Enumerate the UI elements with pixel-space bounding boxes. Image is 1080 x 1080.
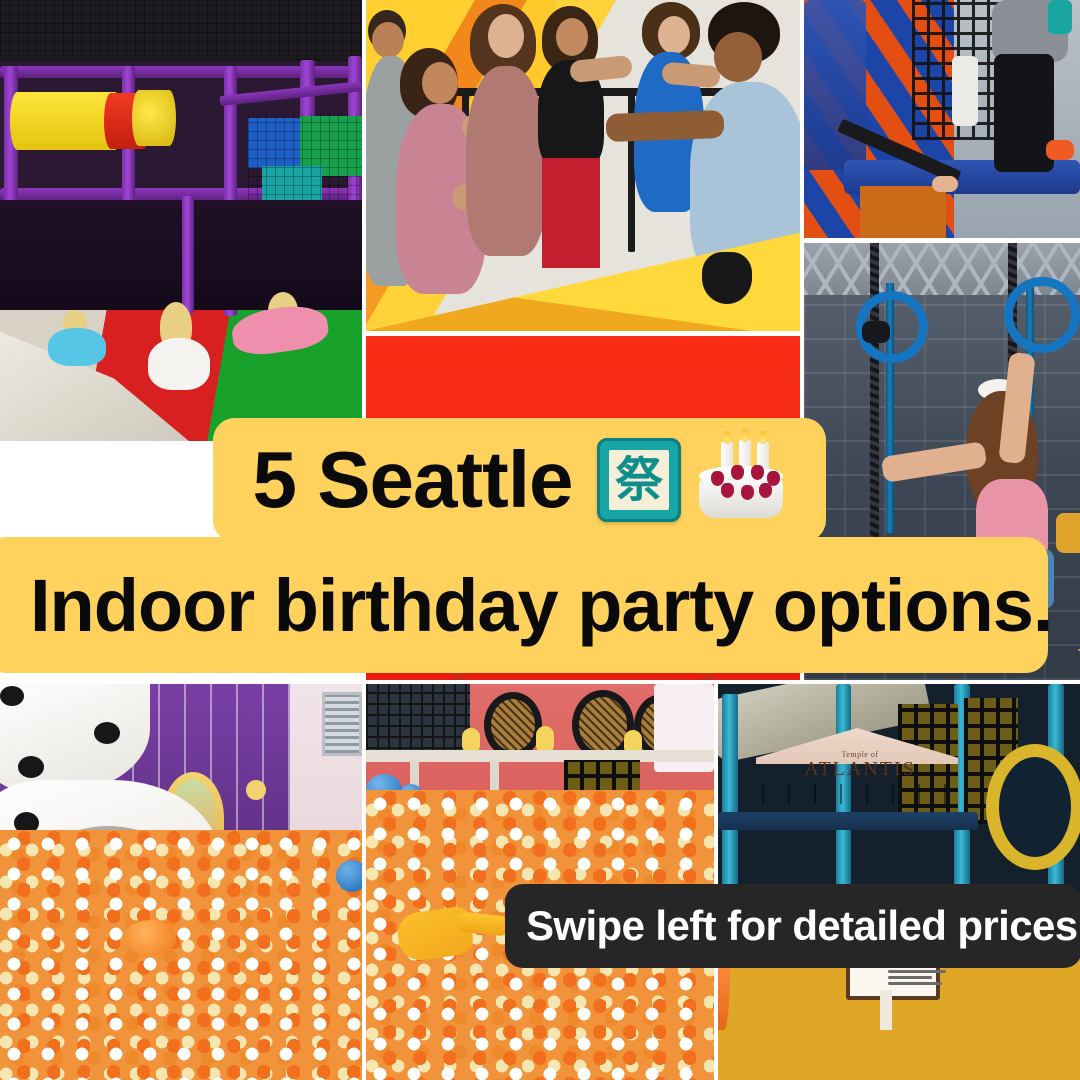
kid-d-pants [542, 158, 600, 268]
atlantis-sign-main: ATLANTIS [780, 758, 940, 781]
party-popper-emoji [1070, 557, 1080, 653]
pointing-right-hand-emoji [398, 898, 510, 964]
platform-edge [718, 812, 978, 830]
kid-a-face [372, 22, 404, 58]
kid-1-body [48, 328, 106, 366]
under-structure-shadow [0, 200, 362, 310]
kid-b-face [422, 62, 458, 104]
ball-pit-balls [0, 830, 362, 1080]
headline-card-secondary: Indoor birthday party options. [0, 537, 1048, 673]
collage-canvas: Temple of ATLANTIS 5 Seattle [0, 0, 1080, 1080]
sign-stand [880, 990, 892, 1030]
wall-vent [322, 692, 362, 756]
wall-pad-left [804, 0, 866, 170]
headline-line-2-text: Indoor birthday party options. [30, 563, 1052, 648]
headline-line-1-row: 5 Seattle [213, 418, 826, 542]
headline-card-primary: 5 Seattle [213, 418, 826, 542]
orange-block [860, 186, 946, 238]
background-person [952, 56, 978, 126]
photo-ninja-image [804, 0, 1080, 238]
photo-atlantis-image: Temple of ATLANTIS [718, 684, 1080, 1080]
loose-balls [124, 920, 176, 956]
photo-playground [0, 0, 362, 441]
jumper-shoe [1046, 140, 1074, 160]
headline-line-1-text: 5 Seattle [252, 434, 572, 526]
upper-net-cage [366, 684, 470, 760]
ring-right [1004, 277, 1080, 353]
japanese-festival-button-emoji [597, 438, 681, 522]
kid-3-body [229, 302, 330, 359]
kid-f-face [714, 32, 762, 82]
popper-cone [1072, 583, 1080, 651]
jumper-legs [994, 54, 1054, 172]
swipe-caption-text: Swipe left for detailed prices. [505, 902, 1080, 950]
cake-cherry-3 [751, 465, 764, 480]
headline-line-2-row: Indoor birthday party options. [30, 537, 1080, 673]
photo-ballpit-mid-image [366, 684, 714, 1080]
birthday-cake-emoji [695, 440, 787, 520]
rules-line-3 [888, 970, 946, 973]
jumper-sleeve [1048, 0, 1072, 34]
photo-ninja [804, 0, 1080, 238]
frame-beam-diag [219, 81, 361, 106]
blue-ball [336, 860, 362, 892]
frame-post-6 [182, 196, 194, 314]
kid-f-arm [606, 110, 725, 142]
pediment-base [762, 784, 954, 804]
cake-cherry-2 [731, 465, 744, 480]
kid-c-face [488, 14, 524, 58]
photo-ballpit-left-image [0, 684, 362, 1080]
cake-flame-2 [741, 429, 749, 442]
black-glove [702, 252, 752, 304]
photo-atlantis: Temple of ATLANTIS [718, 684, 1080, 1080]
cake-cherry-5 [721, 483, 734, 498]
porthole-1 [484, 692, 542, 758]
swipe-caption-pill: Swipe left for detailed prices. [505, 884, 1080, 968]
slide-dot-1 [0, 686, 24, 706]
tube-yellow-end [132, 90, 176, 146]
kid-e-face [658, 16, 690, 54]
ceiling-net [0, 0, 362, 60]
kid-c-body [466, 66, 546, 256]
rules-line-4 [888, 976, 932, 979]
kid-2-body [148, 338, 210, 390]
rope-left [870, 243, 879, 543]
cake-cherry-7 [759, 483, 772, 498]
photo-ballpit-mid [366, 684, 714, 1080]
yellow-hoop [986, 744, 1080, 870]
photo-highfive-image [366, 0, 800, 331]
photo-ballpit-left [0, 684, 362, 1080]
slide-dot-2 [94, 722, 120, 744]
kid-d-face [556, 18, 588, 56]
slide-dot-3 [18, 756, 44, 778]
cake-flame-1 [723, 431, 731, 444]
cake-flame-3 [759, 431, 767, 444]
rules-line-5 [888, 982, 942, 985]
sun-decal [246, 780, 266, 800]
photo-highfive [366, 0, 800, 331]
cake-cherry-6 [741, 485, 754, 500]
cake-cherry-1 [711, 471, 724, 486]
rope-knot-left [862, 321, 890, 343]
photo-playground-image [0, 0, 362, 441]
jumper-foot [932, 176, 958, 192]
